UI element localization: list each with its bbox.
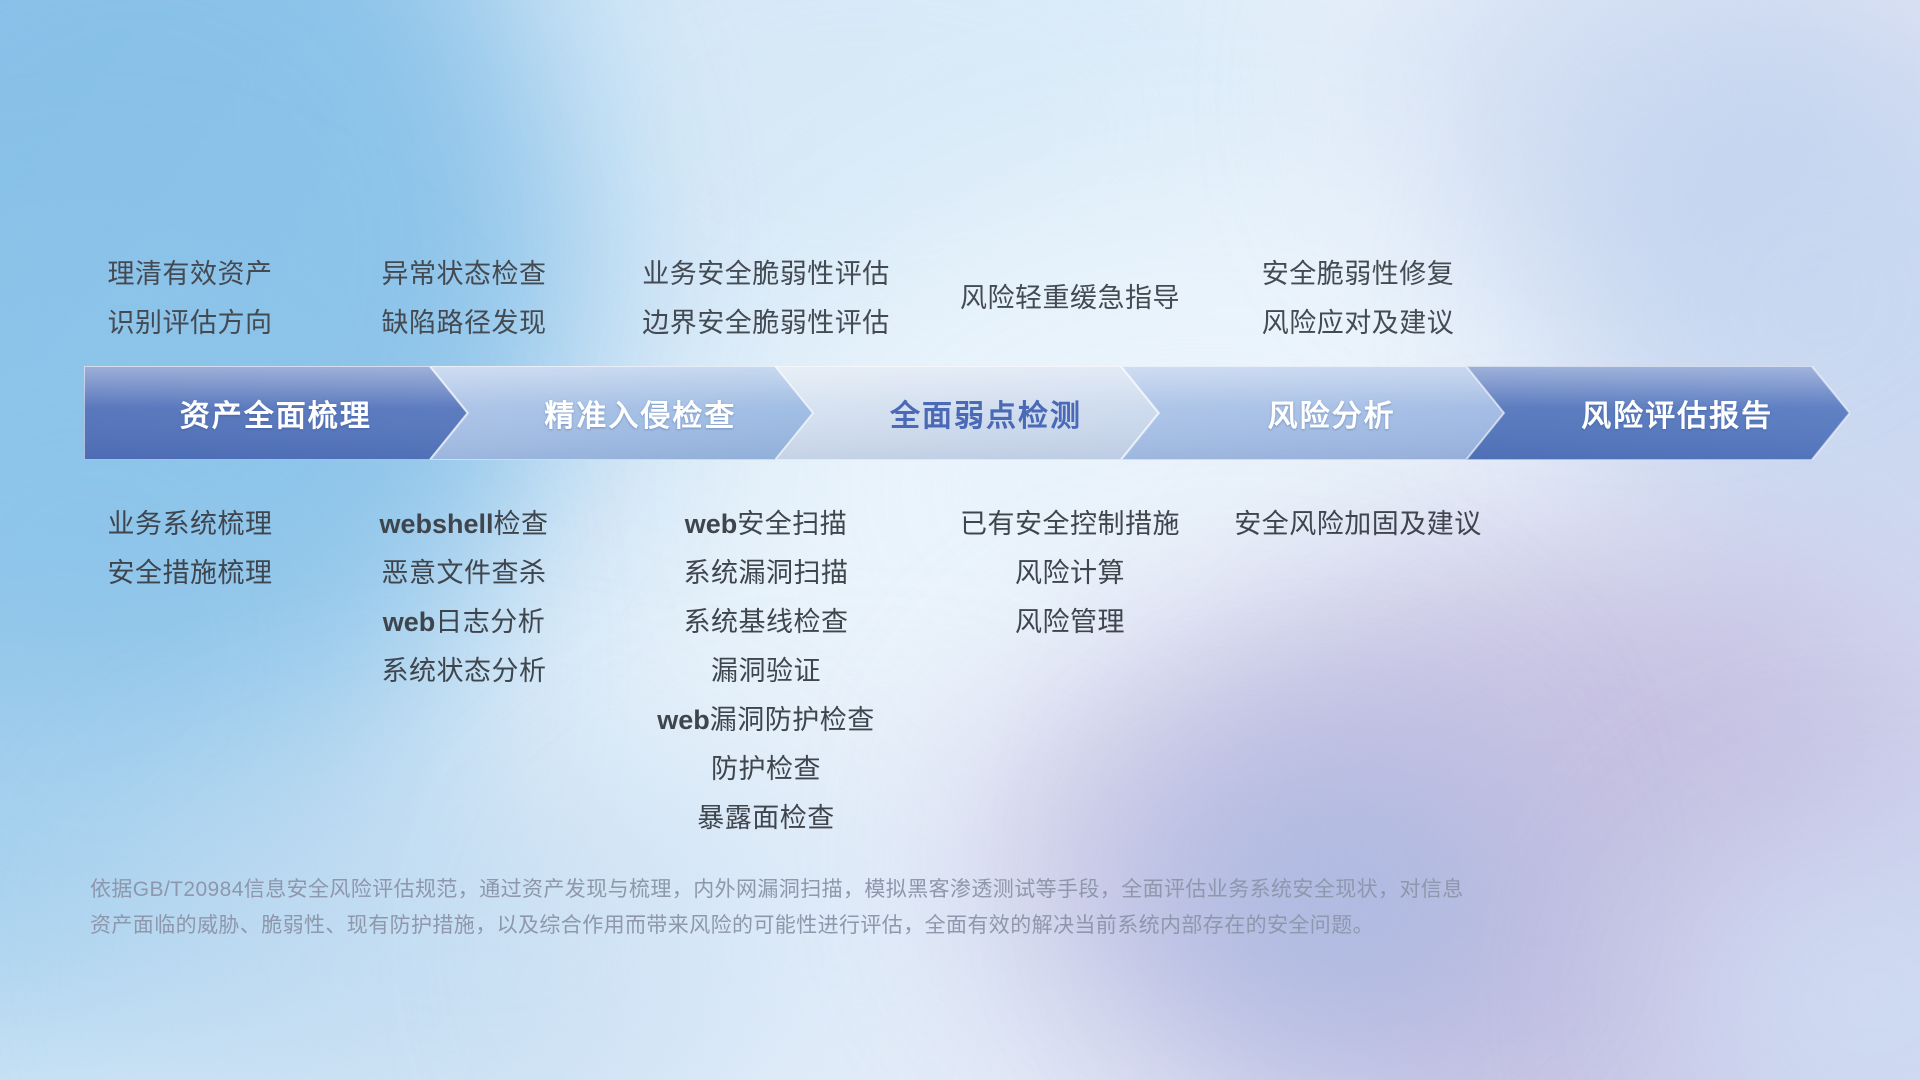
detail-latin-prefix: web — [685, 509, 738, 539]
stage-label: 风险评估报告 — [1543, 391, 1773, 435]
bottom-details-assessment-report: 安全风险加固及建议 — [1108, 500, 1608, 549]
footer-line-2: 资产面临的威胁、脆弱性、现有防护措施，以及综合作用而带来风险的可能性进行评估，全… — [90, 908, 1570, 944]
bottom-detail-item: 暴露面检查 — [516, 794, 1016, 843]
stage-label: 风险分析 — [1230, 391, 1396, 435]
process-stage-weakness-detection[interactable]: 全面弱点检测 — [775, 366, 1159, 460]
detail-cn-text: 风险管理 — [1015, 607, 1125, 637]
process-chevron-band: 资产全面梳理精准入侵检查全面弱点检测风险分析风险评估报告 — [84, 366, 1850, 460]
bottom-detail-item: 风险计算 — [820, 549, 1320, 598]
detail-latin-prefix: web — [383, 607, 436, 637]
top-annotation-item: 安全脆弱性修复 — [1108, 250, 1608, 299]
bottom-detail-item: 漏洞验证 — [516, 647, 1016, 696]
top-annotations-row: 理清有效资产识别评估方向异常状态检查缺陷路径发现业务安全脆弱性评估边界安全脆弱性… — [0, 228, 1920, 348]
detail-cn-text: 漏洞防护检查 — [710, 705, 875, 735]
detail-cn-text: 安全风险加固及建议 — [1234, 509, 1482, 539]
process-stage-intrusion-check[interactable]: 精准入侵检查 — [430, 366, 814, 460]
process-stage-risk-analysis[interactable]: 风险分析 — [1121, 366, 1505, 460]
detail-cn-text: 漏洞验证 — [711, 656, 821, 686]
process-stage-assessment-report[interactable]: 风险评估报告 — [1466, 366, 1850, 460]
detail-latin-prefix: webshell — [379, 509, 493, 539]
bottom-detail-item: 防护检查 — [516, 745, 1016, 794]
detail-cn-text: 防护检查 — [711, 754, 821, 784]
process-diagram: 理清有效资产识别评估方向异常状态检查缺陷路径发现业务安全脆弱性评估边界安全脆弱性… — [0, 0, 1920, 1080]
process-stage-asset-inventory[interactable]: 资产全面梳理 — [84, 366, 468, 460]
footer-line-1: 依据GB/T20984信息安全风险评估规范，通过资产发现与梳理，内外网漏洞扫描，… — [90, 872, 1570, 908]
footer-description: 依据GB/T20984信息安全风险评估规范，通过资产发现与梳理，内外网漏洞扫描，… — [90, 872, 1570, 944]
bottom-detail-item: 安全风险加固及建议 — [1108, 500, 1608, 549]
top-annotations-assessment-report: 安全脆弱性修复风险应对及建议 — [1108, 250, 1608, 348]
bottom-detail-item: 风险管理 — [820, 598, 1320, 647]
detail-cn-text: 风险计算 — [1015, 558, 1125, 588]
stage-label: 资产全面梳理 — [180, 391, 372, 435]
stage-label: 精准入侵检查 — [506, 391, 736, 435]
bottom-detail-item: web漏洞防护检查 — [516, 696, 1016, 745]
detail-latin-prefix: web — [657, 705, 710, 735]
detail-cn-text: 暴露面检查 — [697, 803, 835, 833]
top-annotation-item: 风险应对及建议 — [1108, 299, 1608, 348]
stage-label: 全面弱点检测 — [852, 391, 1082, 435]
